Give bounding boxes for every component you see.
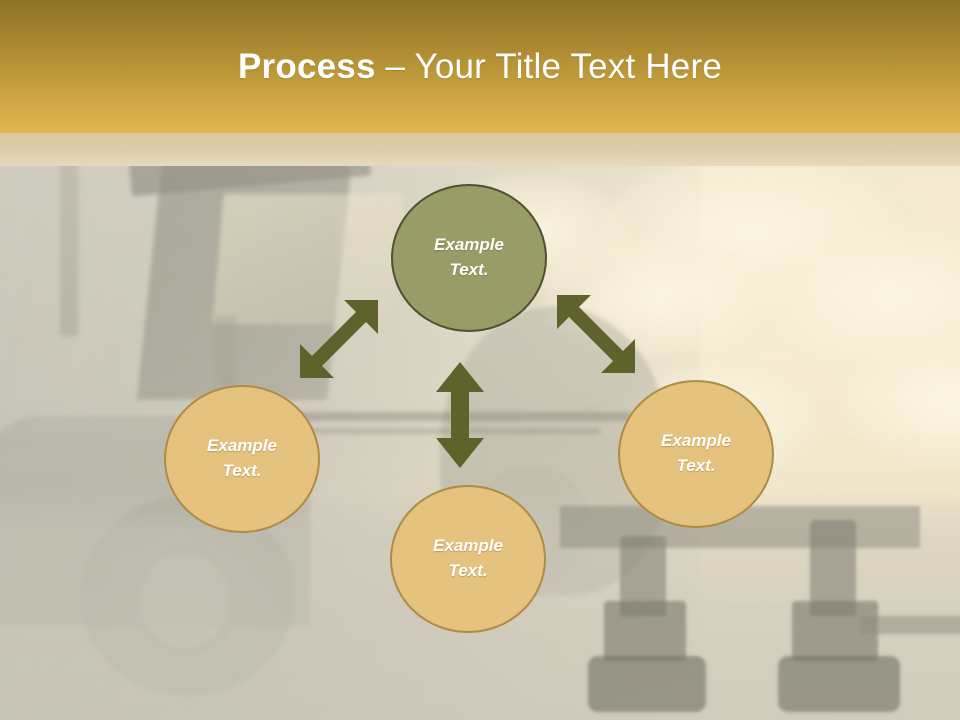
node-bottom[interactable]: Example Text.: [390, 485, 546, 633]
slide: Process – Your Title Text Here: [0, 0, 960, 720]
node-bottom-line1: Example: [433, 534, 503, 559]
node-top-line2: Text.: [449, 258, 488, 283]
node-left-line2: Text.: [222, 459, 261, 484]
node-left[interactable]: Example Text.: [164, 385, 320, 533]
arrow-left-diagonal[interactable]: [298, 298, 390, 390]
node-right-line1: Example: [661, 429, 731, 454]
node-right[interactable]: Example Text.: [618, 380, 774, 528]
node-top[interactable]: Example Text.: [391, 184, 547, 332]
node-bottom-line2: Text.: [448, 559, 487, 584]
node-top-line1: Example: [434, 233, 504, 258]
arrow-right-diagonal[interactable]: [545, 293, 637, 385]
node-left-line1: Example: [207, 434, 277, 459]
process-diagram: Example Text. Example Text. Example Text…: [0, 0, 960, 720]
node-right-line2: Text.: [676, 454, 715, 479]
arrow-center-vertical[interactable]: [433, 360, 487, 470]
